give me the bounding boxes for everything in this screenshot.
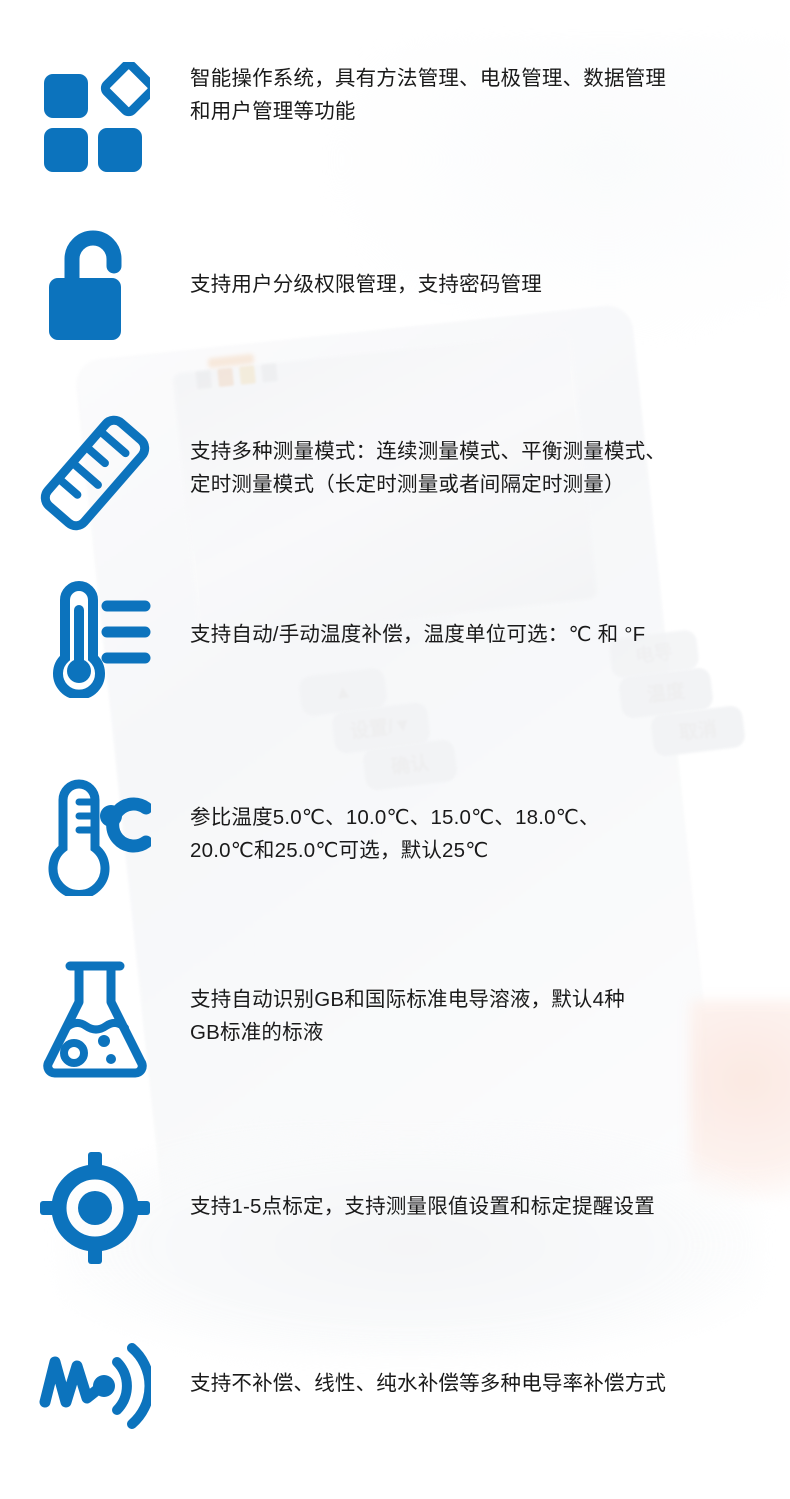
feature-row-user-permission: 支持用户分级权限管理，支持密码管理 [0, 228, 790, 346]
feature-text-standard-solution: 支持自动识别GB和国际标准电导溶液，默认4种 GB标准的标液 [190, 983, 776, 1049]
icon-cell [0, 958, 190, 1080]
flask-icon [39, 958, 151, 1080]
app-grid-icon [40, 62, 150, 177]
text-cell: 支持不补偿、线性、纯水补偿等多种电导率补偿方式 [190, 1340, 790, 1400]
feature-row-calibration-points: 支持1-5点标定，支持测量限值设置和标定提醒设置 [0, 1152, 790, 1264]
feature-text-calibration-points: 支持1-5点标定，支持测量限值设置和标定提醒设置 [190, 1190, 776, 1223]
background-screen-accent [208, 354, 255, 369]
text-cell: 支持1-5点标定，支持测量限值设置和标定提醒设置 [190, 1152, 790, 1223]
feature-row-measure-modes: 支持多种测量模式：连续测量模式、平衡测量模式、 定时测量模式（长定时测量或者间隔… [0, 414, 790, 532]
feature-row-standard-solution: 支持自动识别GB和国际标准电导溶液，默认4种 GB标准的标液 [0, 958, 790, 1080]
unlock-padlock-icon [43, 228, 147, 346]
icon-cell [0, 62, 190, 177]
feature-text-user-permission: 支持用户分级权限管理，支持密码管理 [190, 268, 776, 301]
icon-cell [0, 228, 190, 346]
ruler-icon [39, 414, 151, 532]
icon-cell [0, 778, 190, 896]
thermometer-bars-icon [39, 580, 151, 698]
text-cell: 支持用户分级权限管理，支持密码管理 [190, 228, 790, 301]
feature-row-smart-os: 智能操作系统，具有方法管理、电极管理、数据管理 和用户管理等功能 [0, 62, 790, 177]
background-key-confirm-label: 确认 [390, 753, 430, 776]
thermometer-celsius-icon [39, 778, 151, 896]
background-key-setting-label: 设置/▼ [349, 715, 413, 741]
icon-cell [0, 414, 190, 532]
feature-list-page: ▲ 设置/▼ 确认 温度 取消 电导 [0, 0, 790, 1499]
background-key-cancel: 取消 [650, 705, 746, 758]
feature-text-reference-temperature: 参比温度5.0℃、10.0℃、15.0℃、18.0℃、 20.0℃和25.0℃可… [190, 801, 776, 867]
text-cell: 支持自动/手动温度补偿，温度单位可选：℃ 和 °F [190, 580, 790, 651]
icon-cell [0, 1340, 190, 1438]
background-screen-marks [195, 353, 376, 394]
background-key-setting: 设置/▼ [331, 701, 431, 754]
feature-text-compensation-modes: 支持不补偿、线性、纯水补偿等多种电导率补偿方式 [190, 1367, 776, 1400]
feature-row-temp-compensation: 支持自动/手动温度补偿，温度单位可选：℃ 和 °F [0, 580, 790, 698]
text-cell: 参比温度5.0℃、10.0℃、15.0℃、18.0℃、 20.0℃和25.0℃可… [190, 778, 790, 867]
feature-text-temp-compensation: 支持自动/手动温度补偿，温度单位可选：℃ 和 °F [190, 618, 776, 651]
feature-row-reference-temperature: 参比温度5.0℃、10.0℃、15.0℃、18.0℃、 20.0℃和25.0℃可… [0, 778, 790, 896]
feature-text-smart-os: 智能操作系统，具有方法管理、电极管理、数据管理 和用户管理等功能 [190, 62, 776, 128]
feature-text-measure-modes: 支持多种测量模式：连续测量模式、平衡测量模式、 定时测量模式（长定时测量或者间隔… [190, 435, 776, 501]
icon-cell [0, 580, 190, 698]
target-crosshair-icon [40, 1152, 150, 1264]
text-cell: 支持多种测量模式：连续测量模式、平衡测量模式、 定时测量模式（长定时测量或者间隔… [190, 414, 790, 501]
text-cell: 支持自动识别GB和国际标准电导溶液，默认4种 GB标准的标液 [190, 958, 790, 1049]
icon-cell [0, 1152, 190, 1264]
signal-wave-icon [39, 1340, 151, 1438]
text-cell: 智能操作系统，具有方法管理、电极管理、数据管理 和用户管理等功能 [190, 62, 790, 128]
feature-row-compensation-modes: 支持不补偿、线性、纯水补偿等多种电导率补偿方式 [0, 1340, 790, 1438]
background-key-cancel-label: 取消 [678, 719, 718, 742]
background-watermark: ▲ 设置/▼ 确认 温度 取消 电导 [0, 0, 790, 1499]
